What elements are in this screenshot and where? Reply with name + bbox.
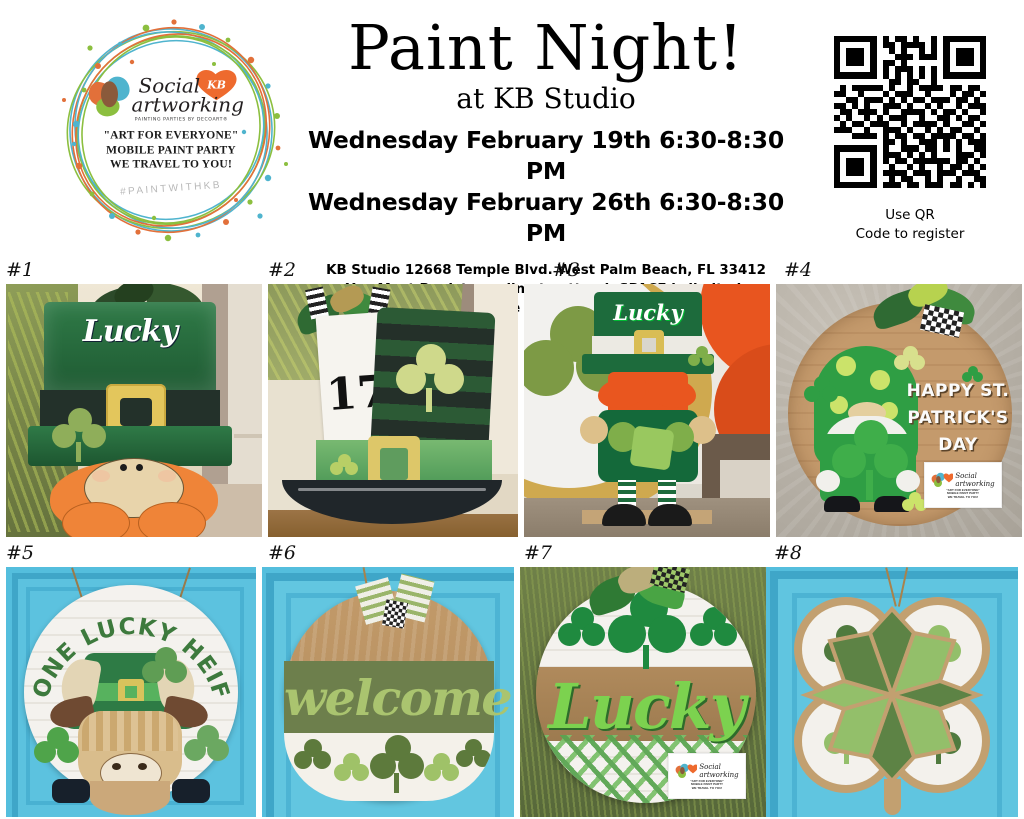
gallery-item-8[interactable]: #8 <box>766 541 1018 817</box>
gallery-label-8: #8 <box>774 541 1018 567</box>
gallery-item-3[interactable]: #3 <box>524 258 770 537</box>
gallery-photo-7[interactable]: Lucky <box>520 567 770 817</box>
gallery-label-4: #4 <box>784 258 1022 284</box>
brand-watermark-7: Socialartworking "ART FOR EVERYONE" MOBI… <box>668 753 746 799</box>
gallery-photo-4[interactable]: HAPPY ST. PATRICK'S DAY <box>776 284 1022 537</box>
sign-text-7: Lucky <box>542 671 750 743</box>
gallery-label-2: #2 <box>268 258 518 284</box>
page-subtitle: at KB Studio <box>296 82 796 116</box>
gallery-photo-1[interactable]: Lucky <box>6 284 262 537</box>
brand-logo-badge: KB Social artworking PAINTING PARTIES BY… <box>46 4 296 254</box>
qr-wrap <box>796 36 1024 188</box>
social-artworking-logo-icon: KB Social artworking PAINTING PARTIES BY… <box>84 64 256 124</box>
gallery-label-6: #6 <box>268 541 514 567</box>
gallery-item-1[interactable]: #1 <box>6 258 262 537</box>
gallery-photo-6[interactable]: welcome <box>262 567 514 817</box>
watermark-line3: WE TRAVEL TO YOU! <box>948 496 979 500</box>
sign-text-1: Lucky <box>54 314 206 349</box>
gallery-item-2[interactable]: #2 <box>268 258 518 537</box>
logo-tagline-line3: WE TRAVEL TO YOU! <box>84 157 259 172</box>
design-gallery: #1 <box>0 258 1024 819</box>
gallery-photo-8[interactable] <box>766 567 1018 817</box>
watermark-logo-icon <box>931 471 953 489</box>
svg-text:PAINTING PARTIES BY DECOART®: PAINTING PARTIES BY DECOART® <box>135 115 229 122</box>
watermark-line3: WE TRAVEL TO YOU! <box>692 787 723 791</box>
flyer-page: KB Social artworking PAINTING PARTIES BY… <box>0 0 1024 819</box>
gallery-item-7[interactable]: #7 <box>520 541 770 817</box>
logo-tagline-line2: MOBILE PAINT PARTY <box>84 143 259 158</box>
event-date-1: Wednesday February 19th 6:30-8:30 PM <box>296 125 796 187</box>
logo-tagline: "ART FOR EVERYONE" MOBILE PAINT PARTY WE… <box>84 128 259 172</box>
logo-tagline-line1: "ART FOR EVERYONE" <box>84 128 259 143</box>
svg-text:artworking: artworking <box>132 92 244 116</box>
gallery-label-7: #7 <box>524 541 770 567</box>
gallery-label-3: #3 <box>552 258 770 284</box>
qr-caption-line2: Code to register <box>796 225 1024 244</box>
event-date-2: Wednesday February 26th 6:30-8:30 PM <box>296 187 796 249</box>
sign-text-3: Lucky <box>598 300 698 325</box>
page-title: Paint Night! <box>296 10 796 86</box>
gallery-item-6[interactable]: #6 welcome <box>262 541 514 817</box>
gallery-label-1: #1 <box>6 258 262 284</box>
gallery-item-5[interactable]: #5 ONE LUCKY HEIFER <box>6 541 256 817</box>
watermark-logo-icon <box>675 762 697 780</box>
qr-caption: Use QR Code to register <box>796 206 1024 244</box>
clover-quilt-8 <box>792 595 992 795</box>
sign-text-6: welcome <box>284 671 494 725</box>
gallery-photo-2[interactable]: 17 <box>268 284 518 537</box>
brand-watermark-4: Socialartworking "ART FOR EVERYONE" MOBI… <box>924 462 1002 508</box>
gallery-label-5: #5 <box>6 541 256 567</box>
qr-code[interactable] <box>834 36 986 188</box>
svg-text:KB: KB <box>206 78 226 91</box>
flyer-header: KB Social artworking PAINTING PARTIES BY… <box>0 0 1024 258</box>
sign-text-4: HAPPY ST. PATRICK'S DAY <box>904 378 1012 459</box>
qr-block: Use QR Code to register <box>796 0 1024 244</box>
gallery-item-4[interactable]: #4 <box>776 258 1022 537</box>
brand-wordmark: KB Social artworking PAINTING PARTIES BY… <box>84 64 259 126</box>
qr-caption-line1: Use QR <box>796 206 1024 225</box>
gallery-photo-5[interactable]: ONE LUCKY HEIFER <box>6 567 256 817</box>
gallery-photo-3[interactable]: Lucky <box>524 284 770 537</box>
